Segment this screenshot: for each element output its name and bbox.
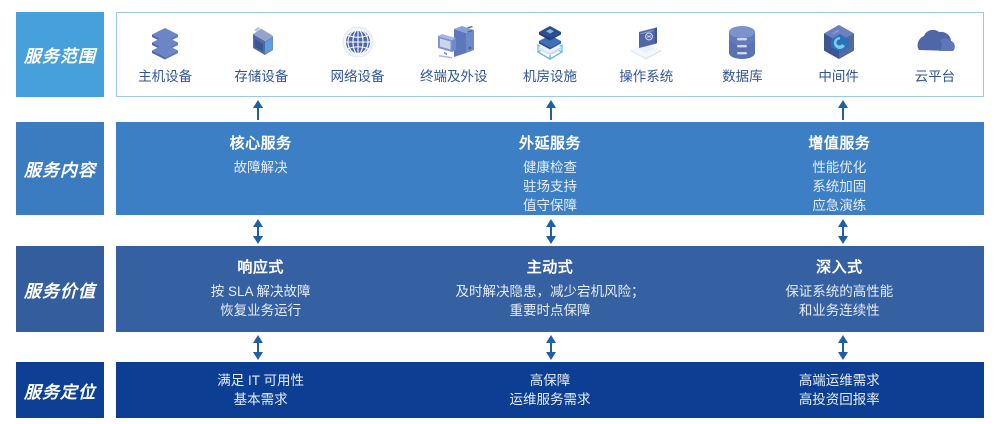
value-cell-proactive[interactable]: 主动式 及时解决隐患，减少宕机风险； 重要时点保障	[405, 246, 694, 332]
row-label-text: 服务价值	[24, 277, 96, 302]
row-label-text: 服务定位	[24, 378, 96, 403]
service-framework-diagram: 服务范围	[0, 0, 1000, 424]
connector-content-to-value-right	[836, 219, 850, 244]
cell-title: 响应式	[237, 256, 284, 277]
globe-network-icon	[338, 20, 378, 64]
storage-array-icon	[241, 20, 281, 64]
server-stack-icon	[145, 20, 185, 64]
scope-item-label: 主机设备	[138, 65, 192, 85]
datacenter-facility-icon	[528, 20, 572, 64]
row-label-service-position: 服务定位	[16, 362, 104, 418]
scope-item-database[interactable]: 数据库	[694, 13, 790, 96]
cell-line: 恢复业务运行	[220, 301, 301, 320]
cloud-icon	[912, 20, 958, 64]
cell-line: 重要时点保障	[509, 301, 590, 320]
scope-item-terminal[interactable]: 终端及外设	[406, 13, 502, 96]
cell-line: 高端运维需求	[799, 371, 880, 390]
cell-title: 主动式	[527, 256, 574, 277]
content-cell-valueadd[interactable]: 增值服务 性能优化 系统加固 应急演练	[695, 122, 984, 215]
cell-line: 故障解决	[234, 158, 288, 177]
cell-line: 高投资回报率	[799, 390, 880, 409]
scope-item-label: 存储设备	[234, 65, 288, 85]
cell-line: 按 SLA 解决故障	[211, 282, 311, 301]
connector-value-to-position-center	[544, 335, 558, 360]
laptop-os-icon	[623, 20, 669, 64]
cell-line: 及时解决隐患，减少宕机风险；	[455, 282, 644, 301]
row-label-service-content: 服务内容	[16, 122, 104, 215]
row-body-service-position: 满足 IT 可用性 基本需求 高保障 运维服务需求 高端运维需求 高投资回报率	[116, 362, 984, 418]
cell-line: 和业务连续性	[799, 301, 880, 320]
cell-line: 系统加固	[812, 177, 866, 196]
position-cell-assurance[interactable]: 高保障 运维服务需求	[405, 362, 694, 418]
scope-item-cloud[interactable]: 云平台	[887, 13, 983, 96]
cell-title: 深入式	[816, 256, 863, 277]
scope-item-storage[interactable]: 存储设备	[213, 13, 309, 96]
cell-title: 核心服务	[230, 132, 292, 153]
cell-line: 满足 IT 可用性	[217, 371, 304, 390]
scope-item-label: 云平台	[915, 65, 956, 85]
connector-content-to-value-center	[544, 219, 558, 244]
scope-item-label: 终端及外设	[420, 65, 488, 85]
cell-line: 值守保障	[523, 196, 577, 215]
cell-line: 高保障	[530, 371, 571, 390]
row-body-service-scope: 主机设备	[116, 12, 984, 97]
cell-line: 基本需求	[234, 390, 288, 409]
scope-item-middleware[interactable]: 中间件	[791, 13, 887, 96]
cube-middleware-icon	[818, 20, 860, 64]
row-body-service-content: 核心服务 故障解决 外延服务 健康检查 驻场支持 值守保障 增值服务 性能优化 …	[116, 122, 984, 215]
cell-line: 性能优化	[812, 158, 866, 177]
row-label-text: 服务内容	[24, 156, 96, 181]
value-cell-responsive[interactable]: 响应式 按 SLA 解决故障 恢复业务运行	[116, 246, 405, 332]
scope-item-label: 数据库	[722, 65, 763, 85]
connector-scope-to-content-right	[836, 100, 850, 120]
scope-item-label: 中间件	[818, 65, 859, 85]
connector-scope-to-content-left	[251, 100, 265, 120]
row-service-content: 服务内容 核心服务 故障解决 外延服务 健康检查 驻场支持 值守保障 增值服务 …	[0, 122, 1000, 215]
desktop-pc-icon	[432, 20, 476, 64]
connector-value-to-position-left	[251, 335, 265, 360]
content-cell-core[interactable]: 核心服务 故障解决	[116, 122, 405, 215]
connector-value-to-position-right	[836, 335, 850, 360]
scope-item-label: 网络设备	[331, 65, 385, 85]
content-cell-extended[interactable]: 外延服务 健康检查 驻场支持 值守保障	[405, 122, 694, 215]
row-body-service-value: 响应式 按 SLA 解决故障 恢复业务运行 主动式 及时解决隐患，减少宕机风险；…	[116, 246, 984, 332]
row-service-scope: 服务范围	[0, 12, 1000, 97]
value-cell-deep[interactable]: 深入式 保证系统的高性能 和业务连续性	[695, 246, 984, 332]
scope-item-network[interactable]: 网络设备	[309, 13, 405, 96]
cell-line: 应急演练	[812, 196, 866, 215]
connector-scope-to-content-center	[544, 100, 558, 120]
scope-item-label: 操作系统	[619, 65, 673, 85]
row-service-position: 服务定位 满足 IT 可用性 基本需求 高保障 运维服务需求 高端运维需求 高投…	[0, 362, 1000, 418]
cell-line: 健康检查	[523, 158, 577, 177]
cell-title: 外延服务	[519, 132, 581, 153]
row-label-text: 服务范围	[24, 42, 96, 67]
position-cell-basic[interactable]: 满足 IT 可用性 基本需求	[116, 362, 405, 418]
row-label-service-scope: 服务范围	[16, 12, 104, 97]
row-service-value: 服务价值 响应式 按 SLA 解决故障 恢复业务运行 主动式 及时解决隐患，减少…	[0, 246, 1000, 332]
scope-item-host[interactable]: 主机设备	[117, 13, 213, 96]
cell-line: 运维服务需求	[509, 390, 590, 409]
position-cell-highend[interactable]: 高端运维需求 高投资回报率	[695, 362, 984, 418]
connector-content-to-value-left	[251, 219, 265, 244]
scope-item-facility[interactable]: 机房设施	[502, 13, 598, 96]
cell-line: 驻场支持	[523, 177, 577, 196]
cell-line: 保证系统的高性能	[785, 282, 893, 301]
scope-item-os[interactable]: 操作系统	[598, 13, 694, 96]
database-cylinder-icon	[722, 20, 762, 64]
scope-item-label: 机房设施	[523, 65, 577, 85]
row-label-service-value: 服务价值	[16, 246, 104, 332]
cell-title: 增值服务	[808, 132, 870, 153]
